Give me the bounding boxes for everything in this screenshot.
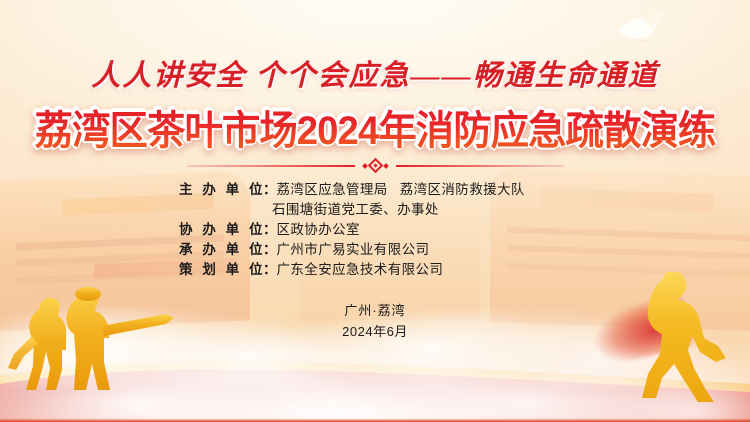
organizer-value-host: 荔湾区应急管理局荔湾区消防救援大队 xyxy=(277,180,572,200)
poster-main-title: 荔湾区茶叶市场2024年消防应急疏散演练 xyxy=(15,98,735,156)
organizer-value-host-a: 荔湾区应急管理局 xyxy=(277,182,388,197)
footer-location: 广州·荔湾 xyxy=(0,300,750,321)
organizer-colon-host: ： xyxy=(263,180,277,200)
organizer-label-host: 主办单位 xyxy=(179,180,263,200)
organizer-colon-undertaker: ： xyxy=(263,240,277,260)
organizer-label-planner: 策划单位 xyxy=(179,260,263,280)
organizer-value-host-b: 荔湾区消防救援大队 xyxy=(400,182,525,197)
organizer-colon-planner: ： xyxy=(263,260,277,280)
organizer-colon-coorganizer: ： xyxy=(263,220,277,240)
divider-line-left xyxy=(187,165,355,167)
dove-icon xyxy=(614,10,668,44)
organizer-row-coorganizer: 协办单位 ： 区政协办公室 xyxy=(179,220,571,240)
organizer-value-host-continued: 石围塘街道党工委、办事处 xyxy=(272,200,439,220)
decorative-divider xyxy=(0,160,750,171)
poster-footer: 广州·荔湾 2024年6月 xyxy=(0,300,750,342)
organizer-row-undertaker: 承办单位 ： 广州市广易实业有限公司 xyxy=(179,240,571,260)
organizer-block: 主办单位 ： 荔湾区应急管理局荔湾区消防救援大队 石围塘街道党工委、办事处 协办… xyxy=(0,180,750,280)
organizer-value-undertaker: 广州市广易实业有限公司 xyxy=(277,240,572,260)
organizer-label-undertaker: 承办单位 xyxy=(179,240,263,260)
poster-canvas: 人人讲安全 个个会应急——畅通生命通道 荔湾区茶叶市场2024年消防应急疏散演练… xyxy=(0,0,750,422)
organizer-row-planner: 策划单位 ： 广东全安应急技术有限公司 xyxy=(179,260,571,280)
organizer-value-planner: 广东全安应急技术有限公司 xyxy=(277,260,572,280)
organizer-value-coorganizer: 区政协办公室 xyxy=(277,220,572,240)
organizer-label-coorganizer: 协办单位 xyxy=(179,220,263,240)
poster-subtitle: 人人讲安全 个个会应急——畅通生命通道 xyxy=(0,52,750,94)
footer-date: 2024年6月 xyxy=(0,321,750,342)
organizer-row-host-continued: 石围塘街道党工委、办事处 xyxy=(179,200,571,220)
diamond-ornament-icon xyxy=(363,160,388,171)
divider-line-right xyxy=(396,165,564,167)
organizer-row-host: 主办单位 ： 荔湾区应急管理局荔湾区消防救援大队 xyxy=(179,180,571,200)
